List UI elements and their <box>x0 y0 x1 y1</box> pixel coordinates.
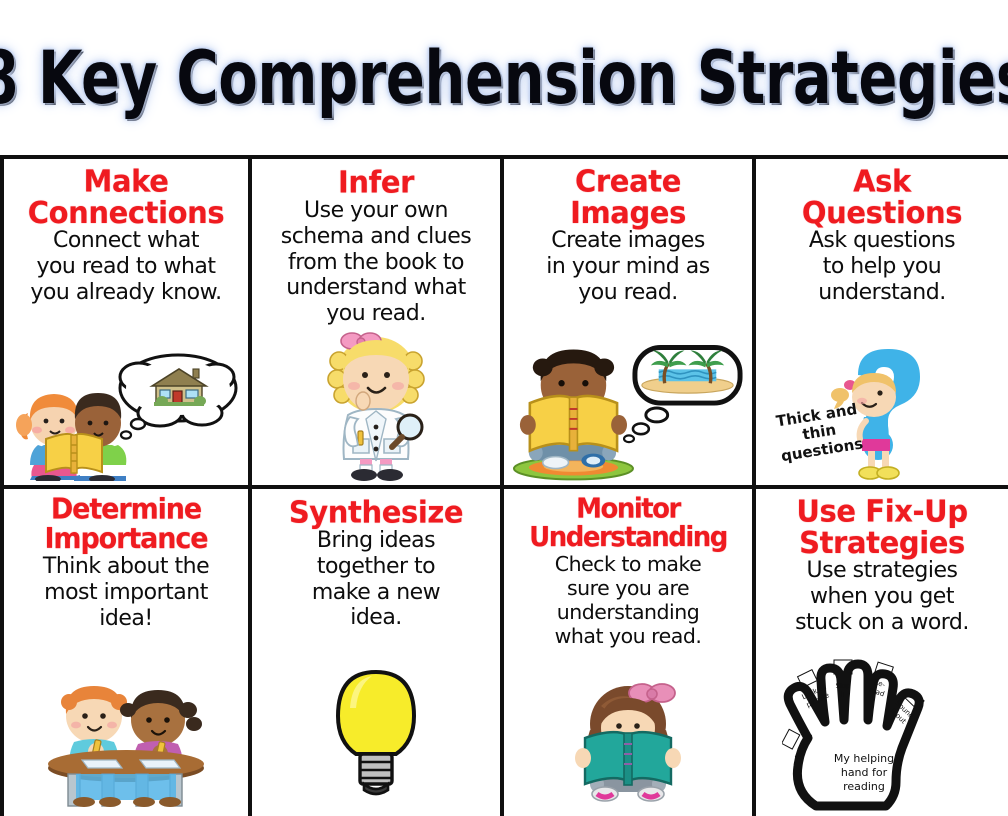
strategy-body: Use strategies when you get stuck on a w… <box>795 558 969 635</box>
illustration-girl-with-big-blue-question-mark: Thick and thin questions <box>762 308 1002 485</box>
strategy-body: Bring ideas together to make a new idea. <box>312 528 440 631</box>
strategy-heading: Use Fix-Up Strategies <box>796 495 967 558</box>
page-title: 8 Key Comprehension Strategies <box>0 41 1008 114</box>
strategy-heading: Monitor Understanding <box>529 496 727 553</box>
svg-text:it: it <box>841 691 846 699</box>
strategy-heading: Make Connections <box>28 165 225 228</box>
strategies-grid: Make Connections Connect what you read t… <box>0 155 1008 816</box>
poster-title-bar: 8 Key Comprehension Strategies <box>0 0 1008 155</box>
illustration-girl-detective-with-magnifying-glass <box>258 329 494 485</box>
strategy-card-infer[interactable]: Infer Use your own schema and clues from… <box>248 155 500 485</box>
strategy-card-make-connections[interactable]: Make Connections Connect what you read t… <box>0 155 248 485</box>
comprehension-strategies-poster: 8 Key Comprehension Strategies Make Conn… <box>0 0 1008 816</box>
strategy-body: Check to make sure you are understanding… <box>555 552 702 648</box>
illustration-boy-reading-book-with-beach-thought-bubble <box>510 308 746 485</box>
strategy-body: Connect what you read to what you alread… <box>30 228 221 305</box>
illustration-two-children-reading-book-with-house-thought-bubble <box>10 308 242 485</box>
illustration-helping-hand-for-reading: My helping hand for reading Skip it Re- … <box>762 638 1002 816</box>
strategy-card-ask-questions[interactable]: Ask Questions Ask questions to help you … <box>752 155 1008 485</box>
strategy-heading: Determine Importance <box>44 496 207 555</box>
hand-palm-line-2: hand for <box>841 766 888 779</box>
hand-palm-line-1: My helping <box>834 752 894 765</box>
illustration-yellow-light-bulb <box>258 633 494 816</box>
hand-finger-label-1: Skip <box>836 682 851 690</box>
strategy-heading: Ask Questions <box>802 165 962 228</box>
strategy-card-monitor-understanding[interactable]: Monitor Understanding Check to make sure… <box>500 485 752 816</box>
strategy-body: Create images in your mind as you read. <box>546 228 709 305</box>
strategy-heading: Create Images <box>570 165 686 228</box>
strategy-heading: Synthesize <box>289 496 463 528</box>
strategy-card-synthesize[interactable]: Synthesize Bring ideas together to make … <box>248 485 500 816</box>
strategy-card-create-images[interactable]: Create Images Create images in your mind… <box>500 155 752 485</box>
hand-palm-line-3: reading <box>843 780 885 793</box>
strategy-body: Use your own schema and clues from the b… <box>281 198 471 327</box>
strategy-card-determine-importance[interactable]: Determine Importance Think about the mos… <box>0 485 248 816</box>
strategy-heading: Infer <box>338 166 414 198</box>
illustration-two-children-writing-at-table <box>10 633 242 816</box>
strategy-card-use-fix-up-strategies[interactable]: Use Fix-Up Strategies Use strategies whe… <box>752 485 1008 816</box>
strategy-body: Think about the most important idea! <box>43 554 209 631</box>
strategy-body: Ask questions to help you understand. <box>809 228 955 305</box>
illustration-girl-reading-teal-book <box>510 650 746 816</box>
